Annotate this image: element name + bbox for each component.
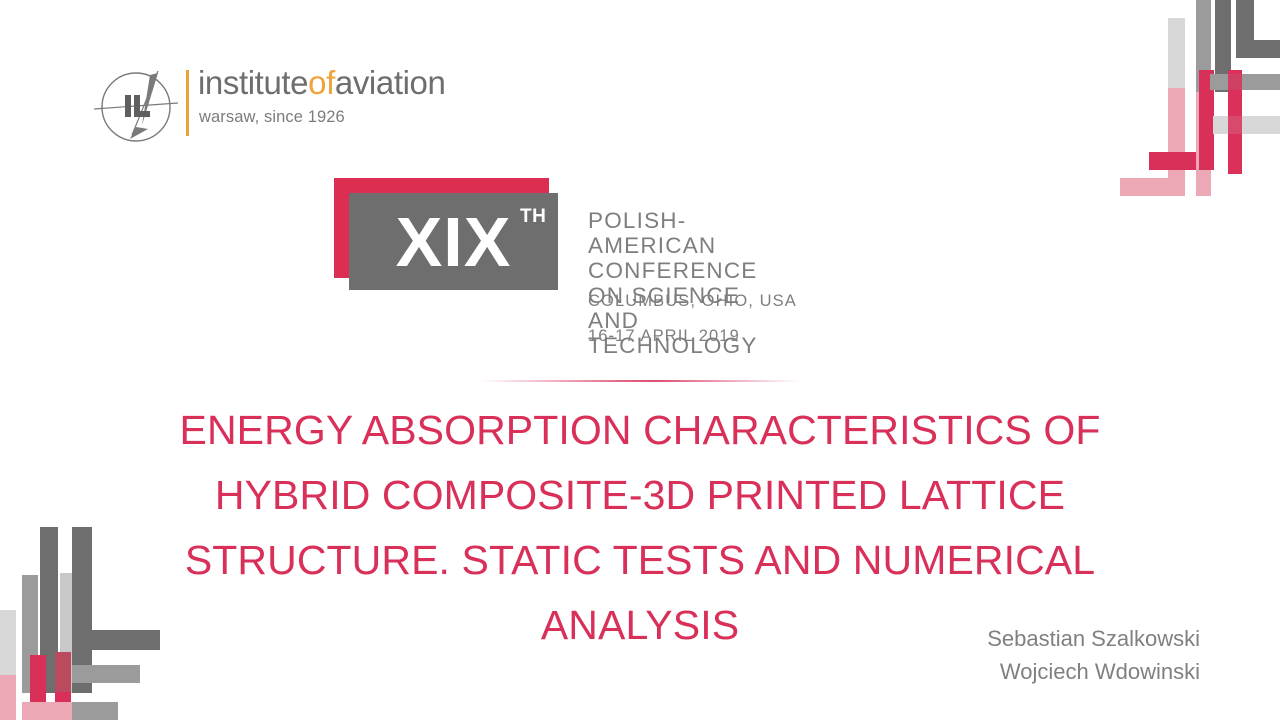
- logo-wordmark-aviation: aviation: [335, 64, 446, 101]
- deco-bar: [1196, 92, 1211, 196]
- deco-bar: [1236, 0, 1254, 42]
- conference-ordinal-suffix: TH: [520, 206, 546, 228]
- deco-bar: [22, 702, 88, 720]
- deco-bar: [1149, 152, 1205, 170]
- deco-bar: [1199, 70, 1214, 170]
- conference-date: 16-17 APRIL 2019: [588, 327, 740, 346]
- author-list: Sebastian Szalkowski Wojciech Wdowinski: [987, 622, 1200, 688]
- title-divider: [480, 380, 800, 382]
- deco-bar: [30, 655, 46, 720]
- institute-emblem-icon: [92, 65, 180, 149]
- deco-bar: [55, 652, 71, 720]
- deco-bar: [72, 630, 160, 650]
- deco-bar: [1215, 0, 1231, 92]
- deco-bar: [1213, 116, 1280, 134]
- deco-bar: [55, 652, 71, 692]
- logo-divider: [186, 70, 189, 136]
- logo-tagline: warsaw, since 1926: [199, 108, 345, 127]
- deco-bar: [1228, 70, 1242, 174]
- institute-of-aviation-logo: instituteofaviation warsaw, since 1926: [92, 62, 512, 152]
- logo-wordmark-institute: institute: [198, 64, 308, 101]
- deco-bar: [60, 573, 75, 693]
- author-name-1: Sebastian Szalkowski: [987, 622, 1200, 655]
- deco-bar: [1168, 18, 1185, 196]
- presentation-slide: instituteofaviation warsaw, since 1926 X…: [0, 0, 1280, 720]
- author-name-2: Wojciech Wdowinski: [987, 655, 1200, 688]
- logo-wordmark-of: of: [308, 64, 335, 101]
- deco-bar: [1210, 74, 1280, 90]
- deco-bar: [72, 527, 92, 693]
- deco-bar: [72, 665, 140, 683]
- deco-bar: [0, 610, 16, 680]
- deco-bar: [1228, 70, 1242, 174]
- logo-wordmark: instituteofaviation: [198, 64, 445, 102]
- deco-bar: [1236, 40, 1280, 58]
- slide-title: ENERGY ABSORPTION CHARACTERISTICS OF HYB…: [150, 398, 1130, 658]
- conference-location: COLUMBUS, OHIO, USA: [588, 292, 797, 311]
- deco-bar: [0, 675, 16, 720]
- deco-bar: [1168, 88, 1185, 196]
- deco-bar: [40, 527, 58, 693]
- deco-bar: [1196, 0, 1211, 95]
- decoration-top-right: [1110, 0, 1280, 200]
- deco-bar: [22, 575, 38, 693]
- deco-bar: [1120, 178, 1176, 196]
- deco-bar: [72, 702, 118, 720]
